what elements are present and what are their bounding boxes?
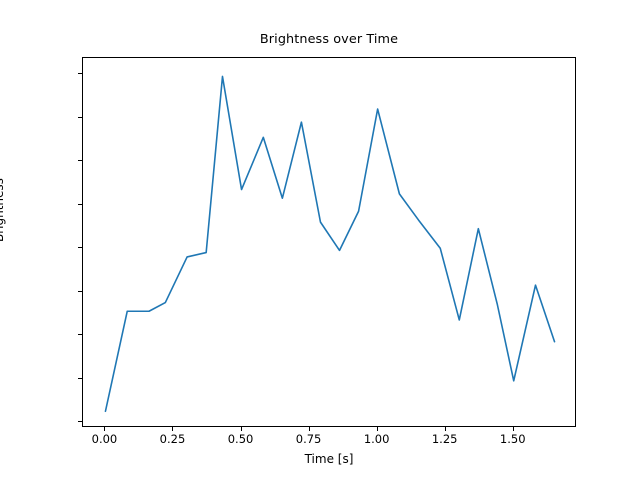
x-tick-label: 1.00 <box>364 432 390 446</box>
brightness-line <box>105 76 554 411</box>
x-tick-label: 1.50 <box>500 432 526 446</box>
y-tick-mark <box>78 291 82 292</box>
y-tick-mark <box>78 73 82 74</box>
x-tick-mark <box>241 427 242 431</box>
y-tick-mark <box>78 160 82 161</box>
y-tick-mark <box>78 334 82 335</box>
y-tick-mark <box>78 421 82 422</box>
y-tick-mark <box>78 117 82 118</box>
x-tick-mark <box>309 427 310 431</box>
x-tick-mark <box>513 427 514 431</box>
line-series-svg <box>83 58 577 428</box>
plot-area <box>82 57 576 427</box>
x-tick-label: 0.50 <box>228 432 254 446</box>
chart-title: Brightness over Time <box>82 32 576 47</box>
x-tick-mark <box>377 427 378 431</box>
x-tick-label: 1.25 <box>432 432 458 446</box>
x-tick-label: 0.25 <box>160 432 186 446</box>
y-tick-mark <box>78 204 82 205</box>
x-tick-mark <box>172 427 173 431</box>
y-tick-mark <box>78 247 82 248</box>
chart-figure: Brightness over Time Brightness Time [s]… <box>0 0 640 480</box>
x-tick-mark <box>104 427 105 431</box>
x-tick-label: 0.75 <box>296 432 322 446</box>
x-axis-label: Time [s] <box>82 452 576 466</box>
y-tick-mark <box>78 378 82 379</box>
x-tick-label: 0.00 <box>92 432 118 446</box>
x-tick-mark <box>445 427 446 431</box>
y-axis-label: Brightness <box>0 178 6 242</box>
